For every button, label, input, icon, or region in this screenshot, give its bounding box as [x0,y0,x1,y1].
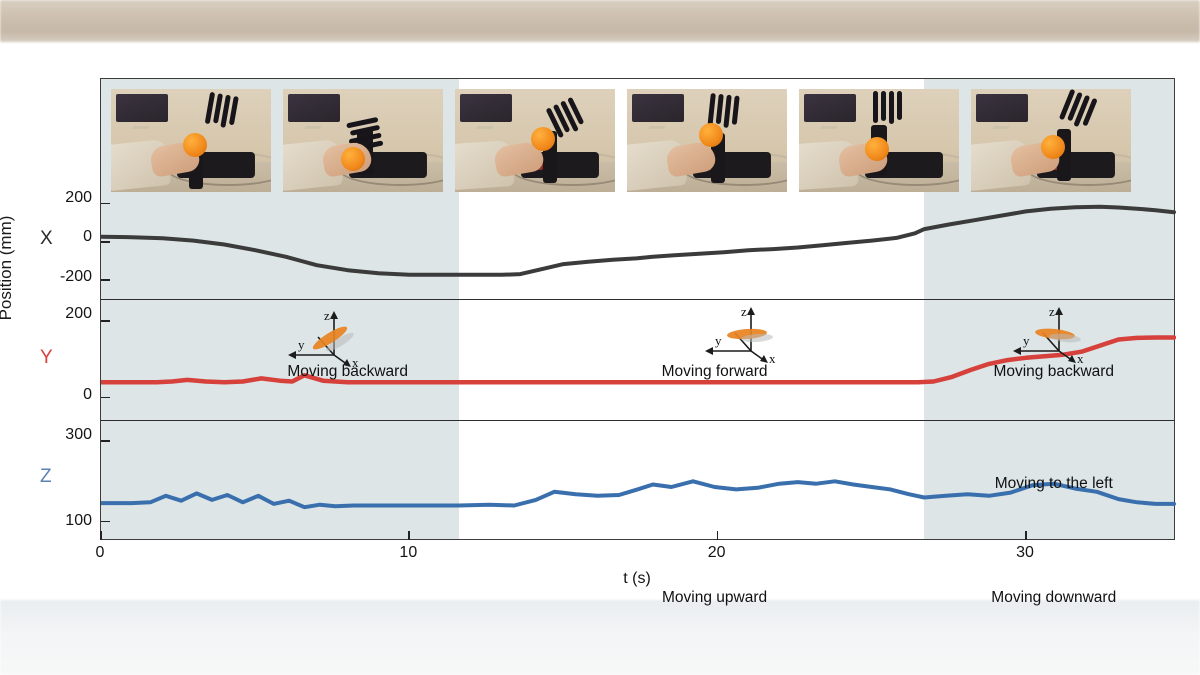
svg-text:z: z [741,304,747,319]
xtick-label-30: 30 [1016,544,1034,562]
series-letter-y: Y [40,347,53,369]
y-axis-title: Position (mm) [0,216,16,321]
annotation-z-upward: Moving upward [662,589,767,607]
series-letter-z: Z [40,466,52,488]
ytick-z-300: 300 [20,426,92,444]
series-line-x [101,207,1174,275]
xtick-mark [717,531,719,540]
ytick-x-neg200: -200 [20,268,92,286]
svg-text:y: y [1023,333,1030,348]
ytick-x-200: 200 [20,189,92,207]
blurred-video-band-bottom [0,600,1200,675]
plot-frame: Moving backwardMoving forwardMoving back… [100,78,1175,540]
coordinate-frame-icon-1: zyx [284,307,380,369]
ytick-z-100: 100 [20,512,92,530]
ytick-y-200: 200 [20,305,92,323]
xtick-mark [408,531,410,540]
xtick-label-20: 20 [708,544,726,562]
plot-area: Moving backwardMoving forwardMoving back… [101,79,1174,539]
x-axis-title: t (s) [623,570,651,588]
xtick-mark [100,531,102,540]
ytick-mark [101,241,110,243]
ytick-y-0: 0 [20,386,92,404]
xtick-mark [1025,531,1027,540]
svg-text:y: y [298,337,305,352]
coordinate-frame-icon-3: zyx [1009,303,1105,365]
ytick-mark [101,521,110,523]
svg-text:y: y [715,333,722,348]
svg-text:x: x [769,351,776,365]
ytick-mark [101,397,110,399]
ytick-mark [101,279,110,281]
annotation-y-left: Moving to the left [995,475,1113,493]
ytick-mark [101,203,110,205]
ytick-x-0: 0 [20,228,92,246]
blurred-video-band-top [0,0,1200,42]
ytick-mark [101,320,110,322]
svg-text:x: x [1077,351,1084,365]
xtick-label-10: 10 [399,544,417,562]
annotation-x-backward-2: Moving backward [993,363,1114,381]
annotation-x-forward: Moving forward [662,363,768,381]
svg-text:z: z [1049,304,1055,319]
xtick-label-0: 0 [96,544,105,562]
coordinate-frame-icon-2: zyx [701,303,797,365]
svg-text:z: z [324,308,330,323]
ytick-mark [101,440,110,442]
svg-text:x: x [352,355,359,369]
figure-screenshot: Position (mm) X Y Z 200 0 -200 200 0 300… [0,0,1200,675]
annotation-z-downward: Moving downward [991,589,1116,607]
